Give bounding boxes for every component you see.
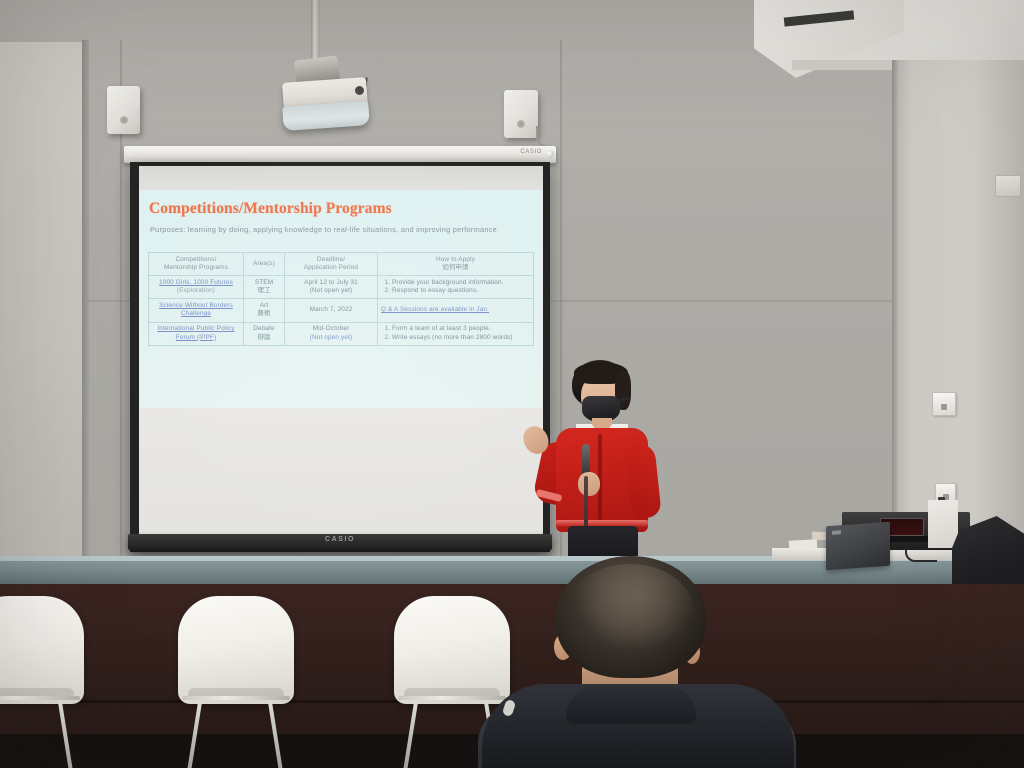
- row-program-name: 1000 Girls, 1000 Futures (Exploration): [149, 276, 244, 299]
- laptop-logo: [832, 530, 841, 535]
- row-area: Art 藝術: [244, 299, 285, 322]
- program-link[interactable]: International Public Policy Forum (IPPF): [157, 325, 234, 341]
- wall-socket: [995, 175, 1021, 197]
- how-item: Provide your background information.: [392, 279, 530, 288]
- how-item: Write essays (no more than 2800 words): [392, 334, 530, 343]
- row-program-name: Science Without Borders Challenge: [149, 299, 244, 322]
- switch-dot: [941, 404, 947, 410]
- table-row: Science Without Borders Challenge Art 藝術…: [149, 299, 534, 322]
- row-how-to-apply: Q & A Sessions are available in Jan.: [378, 299, 534, 322]
- speaker-cone: [517, 120, 525, 128]
- screen-brand-label: CASIO: [325, 536, 355, 543]
- row-deadline: March 7, 2022: [285, 299, 378, 322]
- qa-sessions-link[interactable]: Q & A Sessions are available in Jan.: [381, 306, 489, 313]
- slide-title: Competitions/Mentorship Programs: [149, 200, 392, 218]
- projected-slide: Competitions/Mentorship Programs Purpose…: [140, 190, 542, 408]
- screen-housing-knob: [546, 150, 554, 158]
- speaker-cone: [120, 116, 128, 124]
- program-note: (Exploration): [177, 287, 215, 294]
- row-program-name: International Public Policy Forum (IPPF): [149, 322, 244, 345]
- lecture-hall-scene: CASIO Competitions/Mentorship Programs P…: [0, 0, 1024, 768]
- audience-hair-highlight: [566, 564, 694, 660]
- projection-screen-housing: CASIO: [124, 146, 556, 163]
- projection-screen-top-band: [139, 166, 543, 190]
- header-program: Competitions/ Mentorship Programs: [149, 253, 244, 276]
- papers-stack: [789, 539, 817, 549]
- screen-housing-brand: CASIO: [520, 149, 542, 155]
- header-how-to-apply: How to Apply 如何申請: [378, 253, 534, 276]
- header-area: Area(s): [244, 253, 285, 276]
- program-link[interactable]: 1000 Girls, 1000 Futures: [159, 279, 233, 286]
- av-cable: [905, 548, 937, 562]
- wall-speaker-left: [107, 86, 140, 134]
- left-wall-panel: [0, 42, 86, 582]
- how-item: Form a team of at least 3 people.: [392, 325, 530, 334]
- deadline-note: (Not open yet): [310, 334, 353, 341]
- row-how-to-apply: Provide your background information. Res…: [378, 276, 534, 299]
- projector-mount-pole: [311, 0, 320, 62]
- audience-collar: [566, 686, 696, 724]
- how-item: Respond to essay questions.: [392, 287, 530, 296]
- presenter-arm-right: [624, 443, 662, 520]
- row-deadline: April 12 to July 31 (Not open yet): [285, 276, 378, 299]
- header-deadline: Deadline/ Application Period: [285, 253, 378, 276]
- program-link[interactable]: Science Without Borders Challenge: [159, 302, 233, 318]
- table-header-row: Competitions/ Mentorship Programs Area(s…: [149, 253, 534, 276]
- right-pillar-edge: [892, 60, 898, 580]
- table-row: International Public Policy Forum (IPPF)…: [149, 322, 534, 345]
- laptop[interactable]: [826, 522, 890, 570]
- presenter-hand-right: [578, 472, 600, 496]
- slide-table: Competitions/ Mentorship Programs Area(s…: [148, 252, 534, 346]
- right-pillar: [896, 60, 1024, 580]
- white-object: [928, 500, 958, 548]
- chair-rail: [0, 696, 80, 700]
- speaker-wire: [536, 126, 556, 148]
- wall-speaker-right: [504, 90, 538, 138]
- slide-subtitle: Purposes: learning by doing, applying kn…: [150, 224, 510, 236]
- row-how-to-apply: Form a team of at least 3 people. Write …: [378, 322, 534, 345]
- row-area: Debate 辯論: [244, 322, 285, 345]
- row-deadline: Mid-October (Not open yet): [285, 322, 378, 345]
- audience-member: [470, 556, 800, 768]
- projection-screen-bottom-bar: CASIO: [128, 534, 552, 550]
- presenter: [516, 360, 666, 570]
- table-row: 1000 Girls, 1000 Futures (Exploration) S…: [149, 276, 534, 299]
- row-area: STEM 理工: [244, 276, 285, 299]
- left-wall-edge: [82, 40, 89, 585]
- projector-knob: [355, 86, 364, 95]
- wall-switch-plate[interactable]: [932, 392, 956, 416]
